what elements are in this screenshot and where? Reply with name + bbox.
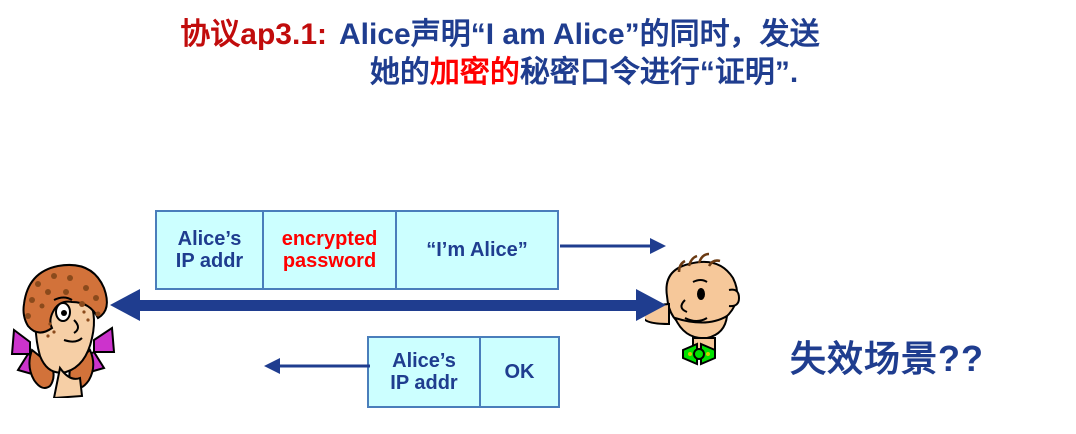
slide-title: 协议ap3.1:Alice声明“I am Alice”的同时，发送 她的加密的秘… xyxy=(0,16,1000,93)
bottom-message-box: Alice’s IP addr OK xyxy=(367,336,560,408)
top-msg-cell-password-line2: password xyxy=(283,250,376,272)
alice-cartoon-icon xyxy=(8,258,118,398)
arrow-alice-bob-channel xyxy=(110,288,666,322)
top-msg-cell-ip-line2: IP addr xyxy=(176,250,243,272)
bottom-msg-cell-ok-line1: OK xyxy=(505,361,535,383)
title-line-1: 协议ap3.1:Alice声明“I am Alice”的同时，发送 xyxy=(0,16,1000,54)
top-msg-cell-password: encrypted password xyxy=(262,212,395,288)
title-line-2-highlight: 加密的 xyxy=(430,56,520,89)
arrow-right-icon xyxy=(560,235,668,257)
top-msg-cell-password-line1: encrypted xyxy=(282,228,378,250)
top-message-box: Alice’s IP addr encrypted password “I’m … xyxy=(155,210,559,290)
arrow-left-icon xyxy=(262,355,370,377)
alice-figure xyxy=(8,258,118,398)
double-headed-arrow-icon xyxy=(110,288,666,322)
title-line-2-suffix: 秘密口令进行“证明”. xyxy=(520,56,798,89)
bottom-msg-cell-ip-line2: IP addr xyxy=(390,372,457,394)
failure-scenario-caption: 失效场景?? xyxy=(790,330,984,382)
top-msg-cell-ip-line1: Alice’s xyxy=(178,228,242,250)
title-line-2-prefix: 她的 xyxy=(370,56,430,89)
top-msg-cell-claim-line1: “I’m Alice” xyxy=(426,239,528,261)
top-msg-cell-claim: “I’m Alice” xyxy=(395,212,557,288)
bottom-msg-cell-ip-line1: Alice’s xyxy=(392,350,456,372)
title-line-2: 她的加密的秘密口令进行“证明”. xyxy=(0,54,1000,92)
title-line-1-text: Alice声明“I am Alice”的同时，发送 xyxy=(339,18,820,51)
protocol-label: 协议ap3.1: xyxy=(180,18,327,51)
bottom-msg-cell-ok: OK xyxy=(479,338,558,406)
arrow-top-to-bob xyxy=(560,235,668,257)
arrow-bottom-to-alice xyxy=(262,355,370,377)
slide-canvas: 协议ap3.1:Alice声明“I am Alice”的同时，发送 她的加密的秘… xyxy=(0,0,1076,434)
top-msg-cell-ip: Alice’s IP addr xyxy=(157,212,262,288)
bottom-msg-cell-ip: Alice’s IP addr xyxy=(369,338,479,406)
